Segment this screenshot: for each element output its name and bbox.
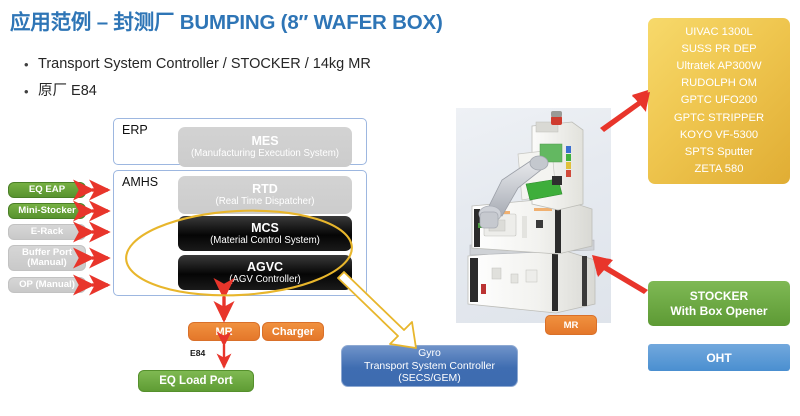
gyro-line-2: Transport System Controller: [364, 360, 495, 373]
side-chip-op-manual: OP (Manual): [8, 277, 86, 293]
equipment-item: GPTC UFO200: [681, 92, 757, 109]
equipment-item: KOYO VF-5300: [680, 127, 758, 144]
side-chip-buffer-port: Buffer Port (Manual): [8, 245, 86, 271]
layer-box-agvc: AGVC (AGV Controller): [178, 255, 352, 290]
equipment-item: Ultratek AP300W: [676, 58, 761, 75]
amhs-label: AMHS: [122, 175, 158, 189]
layer-box-rtd: RTD (Real Time Dispatcher): [178, 176, 352, 214]
equipment-item: UIVAC 1300L: [685, 24, 753, 41]
list-item: • Transport System Controller / STOCKER …: [24, 56, 544, 73]
side-chip-eq-eap: EQ EAP: [8, 182, 86, 198]
bullet-marker-icon: •: [24, 83, 38, 100]
equipment-item: ZETA 580: [695, 161, 744, 178]
bullet-text: Transport System Controller / STOCKER / …: [38, 56, 371, 73]
slide-canvas: 应用范例 – 封测厂 BUMPING (8″ WAFER BOX) • Tran…: [0, 0, 800, 416]
side-chip-buffer-port-label: Buffer Port (Manual): [22, 248, 72, 269]
erp-label: ERP: [122, 123, 148, 137]
layer-title: RTD: [252, 182, 278, 196]
gyro-transport-system-controller-box: Gyro Transport System Controller (SECS/G…: [341, 345, 518, 387]
layer-subtitle: (Real Time Dispatcher): [215, 196, 314, 208]
layer-box-mes: MES (Manufacturing Execution System): [178, 127, 352, 167]
bullet-list: • Transport System Controller / STOCKER …: [24, 56, 544, 110]
page-title: 应用范例 – 封测厂 BUMPING (8″ WAFER BOX): [10, 5, 570, 35]
connector-arrow-left: [92, 190, 108, 285]
layer-box-mcs: MCS (Material Control System): [178, 216, 352, 251]
side-chip-mini-stocker: Mini-Stocker: [8, 203, 86, 219]
oht-box: OHT: [648, 344, 790, 371]
e84-label: E84: [190, 348, 205, 358]
gyro-line-1: Gyro: [418, 347, 441, 360]
equipment-item: GPTC STRIPPER: [674, 110, 764, 127]
layer-subtitle: (AGV Controller): [229, 274, 301, 286]
side-chip-e-rack: E-Rack: [8, 224, 86, 240]
gyro-line-3: (SECS/GEM): [398, 372, 460, 385]
bullet-text: 原厂 E84: [38, 83, 97, 100]
eq-load-port-box: EQ Load Port: [138, 370, 254, 392]
mr-photo-caption: MR: [545, 315, 597, 335]
equipment-photo: [456, 108, 611, 323]
layer-subtitle: (Manufacturing Execution System): [191, 148, 339, 160]
layer-title: AGVC: [247, 260, 283, 274]
bullet-marker-icon: •: [24, 56, 38, 73]
list-item: • 原厂 E84: [24, 83, 544, 100]
stocker-line-2: With Box Opener: [670, 304, 767, 319]
stocker-line-1: STOCKER: [690, 289, 748, 304]
equipment-list-box: UIVAC 1300L SUSS PR DEP Ultratek AP300W …: [648, 18, 790, 184]
stocker-box: STOCKER With Box Opener: [648, 281, 790, 326]
equipment-item: SPTS Sputter: [685, 144, 753, 161]
equipment-photo-render: [456, 108, 611, 323]
layer-title: MES: [251, 134, 278, 148]
equipment-item: RUDOLPH OM: [681, 75, 757, 92]
layer-title: MCS: [251, 221, 279, 235]
mr-box: MR: [188, 322, 260, 341]
layer-subtitle: (Material Control System): [210, 235, 320, 247]
equipment-item: SUSS PR DEP: [681, 41, 756, 58]
charger-box: Charger: [262, 322, 324, 341]
